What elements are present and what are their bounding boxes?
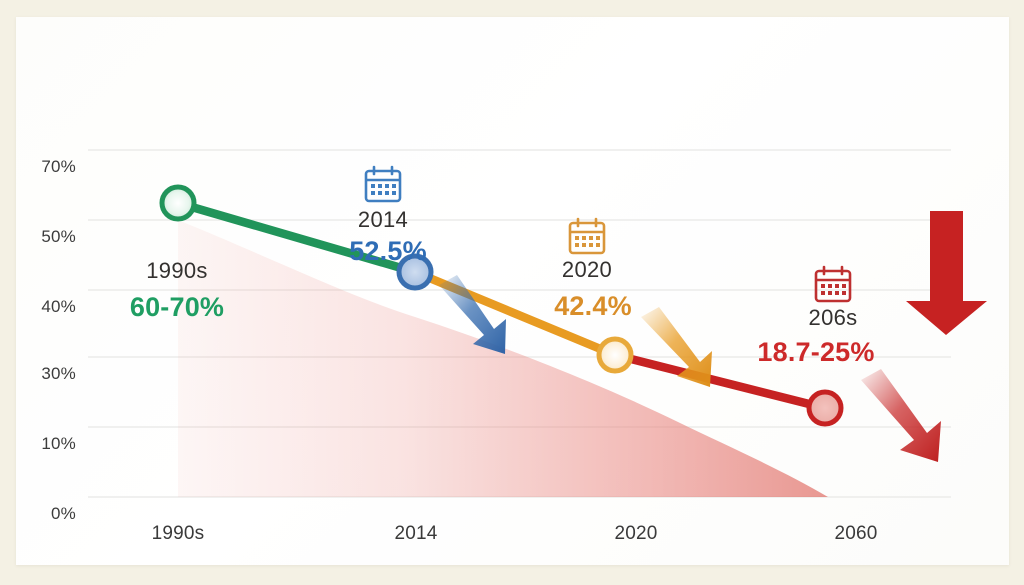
annotation-value-2060: 18.7-25% bbox=[716, 337, 916, 368]
calendar-icon-2020 bbox=[566, 217, 608, 257]
red-trend-arrow bbox=[861, 369, 941, 462]
calendar-icon-2060 bbox=[812, 265, 854, 305]
annotation-year-2020: 2020 bbox=[507, 257, 667, 283]
x-tick-2060: 2060 bbox=[796, 523, 916, 545]
y-tick-30: 30% bbox=[16, 364, 76, 384]
annotation-value-2014: 52.5% bbox=[288, 236, 488, 267]
chart-screenshot: 70% 50% 40% 30% 10% 0% 1990s 2014 2020 2… bbox=[0, 0, 1024, 585]
y-tick-40: 40% bbox=[16, 297, 76, 317]
x-tick-1990s: 1990s bbox=[118, 523, 238, 545]
annotation-value-2020: 42.4% bbox=[493, 291, 693, 322]
marker-2020[interactable] bbox=[599, 339, 631, 371]
annotation-year-2014: 2014 bbox=[303, 207, 463, 233]
x-tick-2020: 2020 bbox=[576, 523, 696, 545]
y-tick-0: 0% bbox=[16, 504, 76, 524]
big-red-down-arrow bbox=[906, 211, 987, 335]
y-tick-70: 70% bbox=[16, 157, 76, 177]
y-tick-10: 10% bbox=[16, 434, 76, 454]
y-tick-50: 50% bbox=[16, 227, 76, 247]
marker-2060[interactable] bbox=[809, 392, 841, 424]
annotation-year-1990s: 1990s bbox=[97, 258, 257, 284]
x-tick-2014: 2014 bbox=[356, 523, 476, 545]
annotation-year-2060: 206s bbox=[753, 305, 913, 331]
chart-card: 70% 50% 40% 30% 10% 0% 1990s 2014 2020 2… bbox=[16, 17, 1009, 565]
calendar-icon-2014 bbox=[362, 165, 404, 205]
annotation-value-1990s: 60-70% bbox=[77, 292, 277, 323]
marker-1990s[interactable] bbox=[162, 187, 194, 219]
